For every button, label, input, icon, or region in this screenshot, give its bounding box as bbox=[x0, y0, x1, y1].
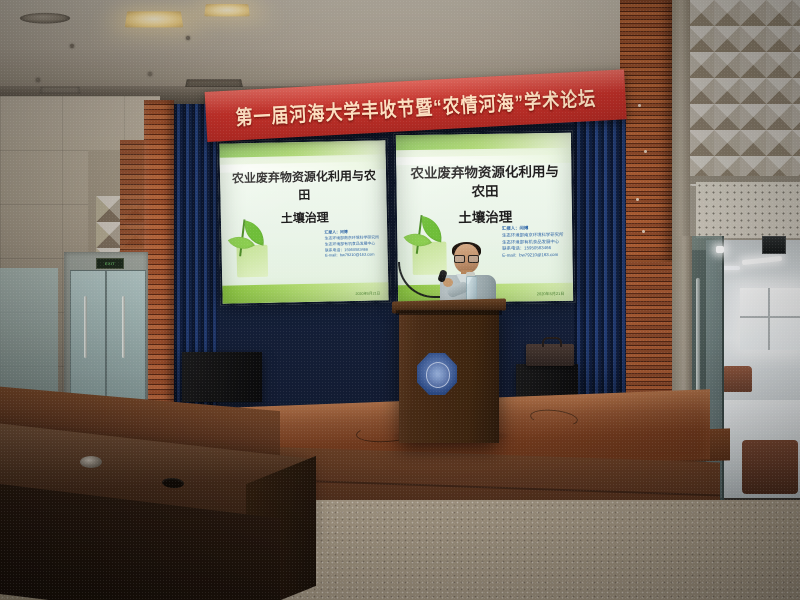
emblem-octagon bbox=[417, 353, 457, 395]
slide-left: 农业废弃物资源化利用与农田 土壤治理 汇报人：闫博 生态环境部南京环境科学研究所… bbox=[219, 140, 388, 303]
desk-knob bbox=[80, 456, 102, 468]
glass-door-leaf-2[interactable] bbox=[106, 270, 146, 412]
ceiling-sprinkler-1 bbox=[70, 44, 74, 48]
podium-lip bbox=[396, 310, 502, 315]
ceiling-light-1 bbox=[125, 11, 183, 27]
slide-title-line1: 农业废弃物资源化利用与农田 bbox=[232, 169, 376, 202]
security-camera bbox=[762, 236, 786, 254]
ceiling-light-2 bbox=[204, 4, 249, 16]
window-mullion-h bbox=[740, 316, 800, 318]
door-handle-1[interactable] bbox=[84, 296, 87, 358]
wood-slat-column-right bbox=[620, 0, 672, 262]
emblem-inner-ring bbox=[426, 362, 450, 388]
slide-title-line1-r: 农业废弃物资源化利用与农田 bbox=[410, 164, 559, 200]
slide-presenter-info-left: 汇报人：闫博 生态环境部南京环境科学研究所 生态环境部有机食品发展中心 联系电话… bbox=[324, 228, 379, 258]
ceiling-sprinkler-4 bbox=[36, 78, 40, 82]
podium bbox=[399, 305, 499, 443]
forum-banner-text: 第一届河海大学丰收节暨“农情河海”学术论坛 bbox=[235, 81, 597, 130]
lobby-sofa bbox=[722, 366, 752, 392]
projection-screen-left: 农业废弃物资源化利用与农田 土壤治理 汇报人：闫博 生态环境部南京环境科学研究所… bbox=[217, 138, 390, 306]
presenter-email-r: E-mail：bw79210@163.com bbox=[502, 252, 564, 259]
brick-column-left bbox=[144, 100, 174, 430]
presenter-email: E-mail：bw79210@163.com bbox=[325, 252, 380, 259]
ceiling-sprinkler-3 bbox=[148, 72, 152, 76]
lecture-hall-photo: 农业废弃物资源化利用与农田 土壤治理 汇报人：闫博 生态环境部南京环境科学研究所… bbox=[0, 0, 800, 600]
perforated-acoustic-panel bbox=[696, 182, 800, 238]
slide-date-right: 2020年5月21日 bbox=[537, 291, 565, 297]
slide-presenter-info-right: 汇报人：闫博 生态环境部南京环境科学研究所 生态环境部有机食品发展中心 联系电话… bbox=[502, 225, 564, 259]
eyeglasses-icon bbox=[454, 255, 479, 261]
water-bottle bbox=[466, 276, 477, 302]
exit-sign-label: EXIT bbox=[105, 261, 115, 266]
window-mullion-v bbox=[768, 288, 770, 350]
lobby-chair-right bbox=[742, 440, 798, 494]
briefcase bbox=[526, 344, 574, 366]
door-handle-2[interactable] bbox=[122, 296, 125, 358]
wall-right-column bbox=[672, 0, 690, 250]
glass-door-leaf-1[interactable] bbox=[70, 270, 106, 412]
lobby-window bbox=[740, 288, 800, 350]
lobby-spotlight bbox=[716, 246, 724, 253]
acoustic-panel-right bbox=[688, 0, 800, 186]
hohai-university-emblem-icon bbox=[417, 353, 457, 395]
stage-curtain-right bbox=[574, 104, 626, 426]
exit-sign: EXIT bbox=[96, 258, 124, 269]
slide-leaf-graphic-left bbox=[228, 216, 279, 281]
slide-date-left: 2020年5月21日 bbox=[355, 291, 380, 297]
ceiling-sprinkler-2 bbox=[186, 36, 190, 40]
briefcase-handle bbox=[542, 337, 562, 347]
stage-speaker-left bbox=[182, 352, 262, 402]
